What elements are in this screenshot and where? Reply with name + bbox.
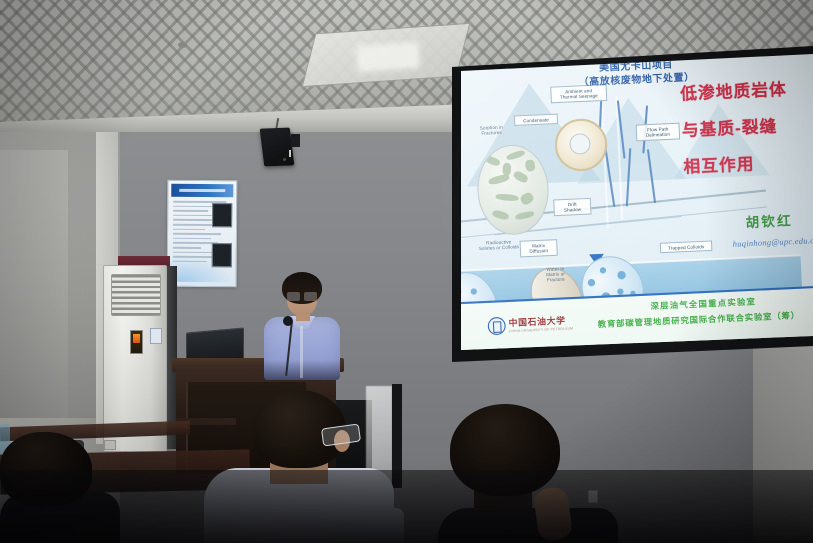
presenter-eyeglasses-icon (287, 292, 317, 299)
poster-photo-icon (212, 203, 232, 227)
slide-label: Sorption in Fractures (470, 122, 512, 138)
slide-title: 低渗地质岩体 与基质-裂缝 相互作用 (679, 71, 813, 186)
ceiling-downlight-icon (178, 42, 187, 48)
foreground-shadow (0, 470, 813, 543)
audience-eyeglasses-icon (321, 423, 361, 446)
lecture-hall-photo: Ambient and Thermal Seepage Condensate S… (0, 0, 813, 543)
wall-speaker-icon (260, 128, 295, 167)
microphone-head-icon (283, 316, 293, 326)
slide-label: Water in Matrix or Fracture (537, 263, 573, 285)
slide-label: Radioactive Solutes or Colloids (473, 236, 524, 253)
poster-header-banner (171, 184, 233, 197)
slide-label: Trapped Colloids (660, 240, 713, 253)
ac-display-panel (130, 330, 143, 354)
slide-title-line2: 与基质-裂缝 (681, 107, 812, 149)
ceiling-light-glow (356, 42, 420, 72)
slide-label: Drift Shadow (553, 198, 591, 216)
slide-label: Flow Path Delineation (636, 123, 681, 141)
slide-title-line3: 相互作用 (683, 144, 813, 186)
poster-graphic-wave (170, 256, 234, 282)
projection-screen: Ambient and Thermal Seepage Condensate S… (461, 54, 813, 350)
ac-vent-grille-icon (111, 274, 161, 316)
presenter (256, 272, 348, 380)
slide-label: Condensate (514, 114, 558, 127)
speaker-led-icon (289, 150, 291, 157)
slide-content: Ambient and Thermal Seepage Condensate S… (461, 54, 813, 350)
left-wall-panel (0, 150, 68, 418)
slide-title-line1: 低渗地质岩体 (679, 71, 810, 113)
speaker-bracket (291, 134, 300, 147)
slide-author: 胡钦红 (745, 210, 793, 232)
slide-label: Matrix Diffusion (520, 239, 558, 257)
presenter-shirt-placket (300, 326, 303, 378)
slide-email: huqinhong@upc.edu.cn (733, 236, 813, 249)
wall-poster (167, 180, 238, 287)
ac-spec-label (150, 328, 162, 344)
speaker-driver-icon (283, 158, 286, 161)
